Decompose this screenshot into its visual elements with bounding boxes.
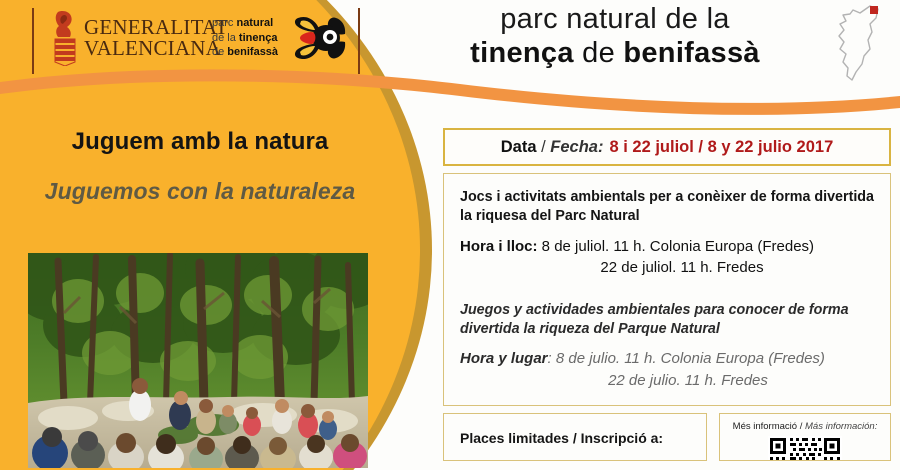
registration-box: Places limitades / Inscripció a: xyxy=(443,413,707,461)
pn-line-2: de la tinença xyxy=(212,31,278,46)
spanish-when-line-1: Hora y lugar: 8 de julio. 11 h. Colonia … xyxy=(460,348,874,370)
catalan-when-line-1: Hora i lloc: 8 de juliol. 11 h. Colonia … xyxy=(460,236,874,258)
gv-line-1: GENERALITAT xyxy=(84,17,228,38)
right-column: Data / Fecha:8 i 22 juliol / 8 y 22 juli… xyxy=(443,128,891,461)
poster-title: parc natural de la tinença de benifassà xyxy=(420,2,810,70)
date-line: Data / Fecha:8 i 22 juliol / 8 y 22 juli… xyxy=(501,138,834,157)
catalan-when-label: Hora i lloc: xyxy=(460,238,538,255)
parc-natural-wordmark: parc natural de la tinença de benifassà xyxy=(212,16,278,61)
poster-canvas: GENERALITAT VALENCIANA parc natural de l… xyxy=(0,0,900,470)
left-column: Juguem amb la natura Juguemos con la nat… xyxy=(0,120,400,205)
spanish-when-value-1: : 8 de julio. 11 h. Colonia Europa (Fred… xyxy=(548,350,825,367)
more-info-label-catalan: Més informació xyxy=(733,421,797,432)
activity-photo xyxy=(28,253,368,468)
title-tinenca: tinença xyxy=(470,37,574,69)
title-line-1: parc natural de la xyxy=(420,2,810,36)
header-divider-left xyxy=(32,8,34,74)
more-info-separator: / xyxy=(797,421,805,432)
bottom-boxes-row: Places limitades / Inscripció a: Més inf… xyxy=(443,413,891,461)
date-box: Data / Fecha:8 i 22 juliol / 8 y 22 juli… xyxy=(443,128,891,166)
generalitat-valenciana-shield-icon xyxy=(52,10,78,66)
catalan-when-value-1: 8 de juliol. 11 h. Colonia Europa (Frede… xyxy=(538,238,815,255)
catalan-description: Jocs i activitats ambientals per a conèi… xyxy=(460,188,874,226)
parc-natural-logo: parc natural de la tinença de benifassà xyxy=(212,12,348,64)
more-info-box: Més informació / Más información: xyxy=(719,413,891,461)
more-info-label-spanish: Más información: xyxy=(805,421,877,432)
spanish-when-label: Hora y lugar xyxy=(460,350,548,367)
more-info-label: Més informació / Más información: xyxy=(720,421,890,432)
date-label-catalan: Data xyxy=(501,138,537,156)
generalitat-valenciana-wordmark: GENERALITAT VALENCIANA xyxy=(84,17,228,59)
registration-text: Places limitades / Inscripció a: xyxy=(460,430,706,446)
title-de: de xyxy=(574,37,624,69)
activity-info-box: Jocs i activitats ambientals per a conèi… xyxy=(443,173,891,406)
date-label-spanish: Fecha: xyxy=(550,138,603,156)
pn-line-3: de benifassà xyxy=(212,45,278,60)
left-heading-catalan: Juguem amb la natura xyxy=(0,120,400,156)
valencian-community-map-icon xyxy=(826,2,888,86)
header-divider-right xyxy=(358,8,360,74)
spanish-description: Juegos y actividades ambientales para co… xyxy=(460,301,874,339)
poster-header: GENERALITAT VALENCIANA parc natural de l… xyxy=(0,0,900,95)
qr-code-icon[interactable] xyxy=(768,436,842,461)
date-value: 8 i 22 juliol / 8 y 22 julio 2017 xyxy=(609,138,833,156)
parc-natural-butterfly-icon xyxy=(286,12,348,64)
title-benifassa: benifassà xyxy=(623,37,760,69)
children-in-forest-photo-illustration xyxy=(28,253,368,468)
date-separator: / xyxy=(537,138,551,156)
pn-line-1: parc natural xyxy=(212,16,278,31)
gv-line-2: VALENCIANA xyxy=(84,38,228,59)
spanish-when-line-2: 22 de julio. 11 h. Fredes xyxy=(460,370,874,392)
catalan-when-line-2: 22 de juliol. 11 h. Fredes xyxy=(460,257,874,279)
title-line-2: tinença de benifassà xyxy=(420,36,810,70)
left-heading-spanish: Juguemos con la naturaleza xyxy=(0,156,400,205)
generalitat-valenciana-logo: GENERALITAT VALENCIANA xyxy=(52,10,228,66)
